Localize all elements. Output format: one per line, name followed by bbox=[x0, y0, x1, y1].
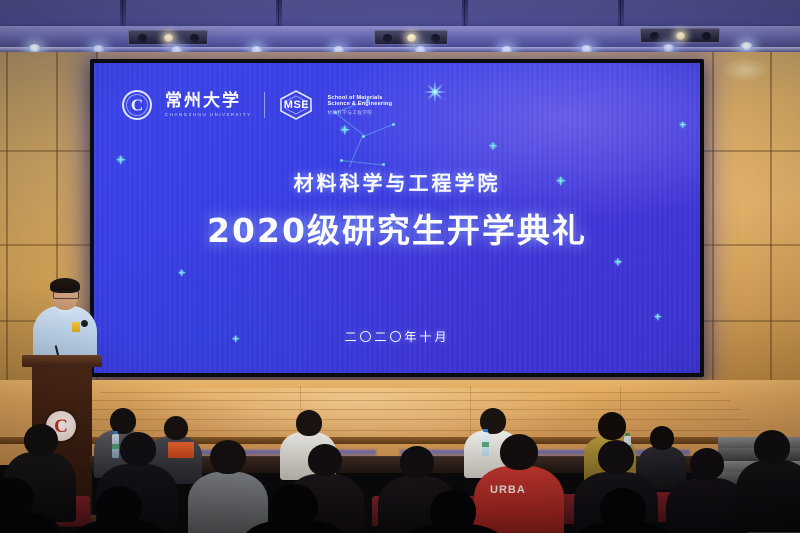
water-bottle bbox=[482, 432, 489, 456]
star-decoration bbox=[654, 313, 661, 320]
constellation-node bbox=[392, 123, 395, 126]
star-decoration bbox=[116, 155, 125, 164]
auditorium-scene: C 常州大学 CHANGZHOU UNIVERSITY MSE School o… bbox=[0, 0, 800, 533]
audience-area: URBA bbox=[0, 400, 800, 533]
screen-logo-row: C 常州大学 CHANGZHOU UNIVERSITY MSE School o… bbox=[122, 89, 392, 121]
speaker-person bbox=[30, 280, 100, 362]
shirt-text-label: URBA bbox=[490, 484, 526, 496]
led-screen: C 常州大学 CHANGZHOU UNIVERSITY MSE School o… bbox=[94, 63, 700, 373]
changzhou-university-wordmark: 常州大学 CHANGZHOU UNIVERSITY bbox=[165, 93, 251, 118]
ceiling-downlight bbox=[740, 42, 753, 51]
track-spotlight-center bbox=[374, 30, 448, 45]
speaker-name-badge bbox=[72, 322, 80, 332]
headline-subtitle: 材料科学与工程学院 bbox=[94, 167, 700, 196]
water-bottle bbox=[112, 434, 119, 458]
mse-hexagon-icon: MSE bbox=[278, 89, 314, 121]
school-name-en-line1: School of Materials bbox=[327, 95, 392, 102]
headline-title: 2020级研究生开学典礼 bbox=[94, 204, 700, 252]
changzhou-university-mark-icon: C bbox=[122, 90, 152, 120]
star-decoration bbox=[178, 269, 185, 276]
led-screen-bezel: C 常州大学 CHANGZHOU UNIVERSITY MSE School o… bbox=[90, 59, 704, 377]
star-decoration bbox=[489, 142, 497, 150]
star-decoration bbox=[679, 121, 686, 128]
screen-headline: 材料科学与工程学院 2020级研究生开学典礼 bbox=[94, 167, 700, 252]
cz-mark-letter: C bbox=[131, 97, 143, 114]
speaker-lapel-item bbox=[81, 320, 88, 327]
track-spotlight-right bbox=[640, 28, 720, 43]
logo-divider bbox=[264, 92, 265, 118]
university-name-en: CHANGZHOU UNIVERSITY bbox=[165, 113, 251, 118]
star-decoration bbox=[614, 258, 622, 266]
red-box-item bbox=[168, 442, 194, 458]
constellation-line bbox=[363, 124, 392, 137]
school-name-cn: 材料科学与工程学院 bbox=[327, 110, 392, 115]
track-spotlight-left bbox=[128, 30, 208, 45]
university-name-cn: 常州大学 bbox=[165, 93, 251, 110]
mse-wordmark: School of Materials Science & Engineerin… bbox=[327, 95, 392, 116]
glasses-icon bbox=[53, 291, 79, 299]
headline-date: 二〇二〇年十月 bbox=[94, 328, 700, 345]
star-decoration bbox=[340, 125, 349, 134]
mse-mark-letter: MSE bbox=[284, 99, 309, 111]
constellation-line bbox=[341, 160, 383, 165]
star-burst-decoration bbox=[424, 81, 446, 103]
podium-top bbox=[22, 355, 102, 367]
school-name-en-line2: Science & Engineering bbox=[327, 101, 392, 108]
